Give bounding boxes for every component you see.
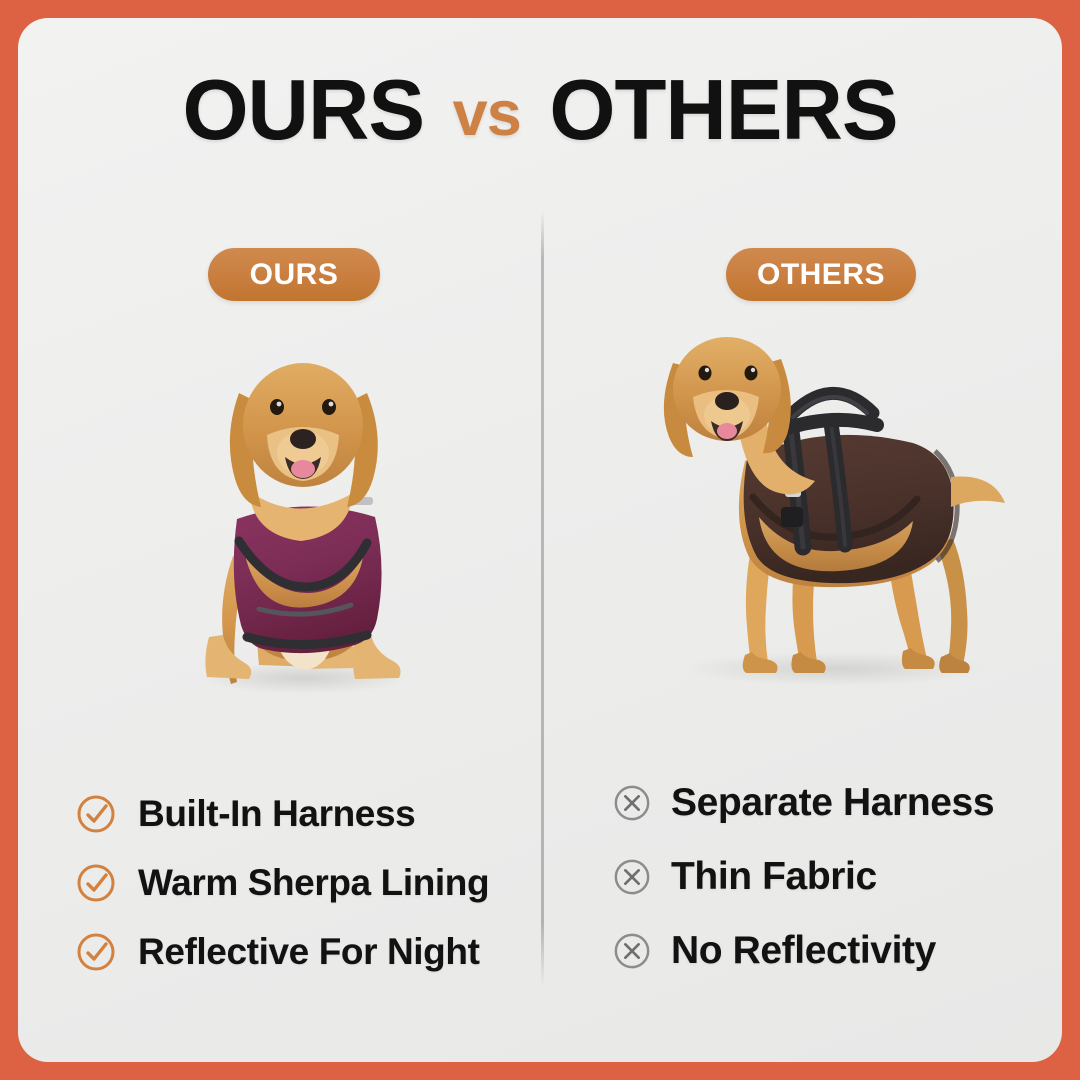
column-ours: OURS — [36, 211, 541, 1001]
title-others: OTHERS — [549, 63, 897, 158]
product-image-others — [635, 311, 1015, 701]
feature-label: No Reflectivity — [671, 929, 936, 973]
column-others: OTHERS — [545, 211, 1062, 1001]
badge-others[interactable]: OTHERS — [726, 248, 916, 301]
product-image-ours — [141, 341, 461, 701]
cross-circle-icon — [613, 784, 651, 822]
cross-circle-icon — [613, 932, 651, 970]
feature-item: Separate Harness — [613, 781, 1062, 825]
title-ours: OURS — [182, 63, 424, 158]
page-title: OURS vs OTHERS — [18, 66, 1062, 155]
title-vs: vs — [447, 79, 527, 149]
column-divider — [541, 211, 544, 986]
feature-label: Built-In Harness — [138, 793, 415, 835]
badge-others-label: OTHERS — [757, 258, 885, 292]
feature-item: No Reflectivity — [613, 929, 1062, 973]
feature-list-ours: Built-In Harness Warm Sherpa Lining Refl… — [36, 793, 541, 973]
feature-item: Reflective For Night — [76, 931, 541, 973]
feature-label: Separate Harness — [671, 781, 994, 825]
feature-label: Warm Sherpa Lining — [138, 862, 489, 904]
check-circle-icon — [76, 794, 116, 834]
feature-item: Warm Sherpa Lining — [76, 862, 541, 904]
feature-label: Reflective For Night — [138, 931, 480, 973]
feature-item: Built-In Harness — [76, 793, 541, 835]
cross-circle-icon — [613, 858, 651, 896]
check-circle-icon — [76, 932, 116, 972]
feature-list-others: Separate Harness Thin Fabric No Reflecti… — [545, 781, 1062, 973]
check-circle-icon — [76, 863, 116, 903]
badge-ours[interactable]: OURS — [208, 248, 380, 301]
badge-ours-label: OURS — [250, 258, 339, 292]
poster-panel: OURS vs OTHERS OURS — [18, 18, 1062, 1062]
feature-item: Thin Fabric — [613, 855, 1062, 899]
poster-frame: OURS vs OTHERS OURS — [0, 0, 1080, 1080]
feature-label: Thin Fabric — [671, 855, 877, 899]
